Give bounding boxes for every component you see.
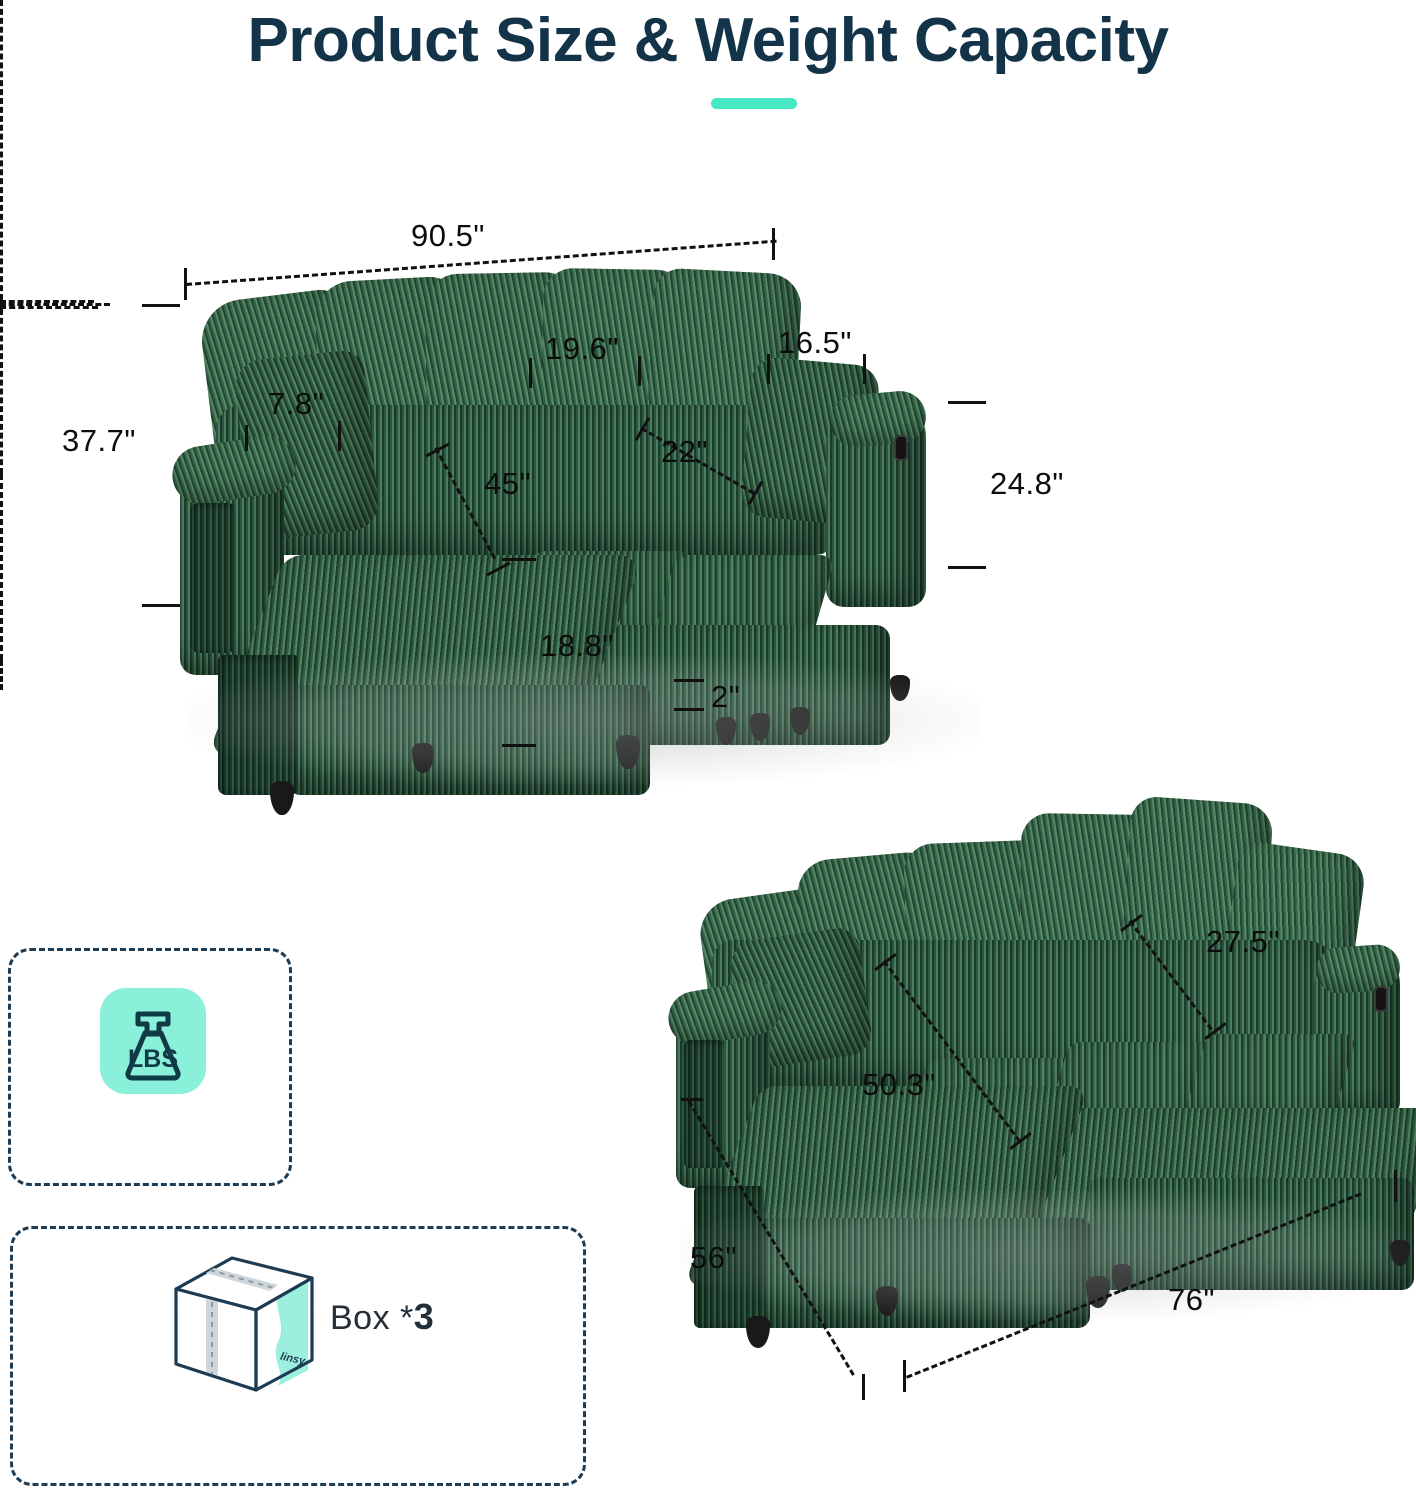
armrest-right-roll — [1314, 943, 1401, 995]
box-count-value: 3 — [414, 1296, 435, 1337]
guide-leg-height — [0, 660, 3, 690]
sofa-view-lower — [660, 790, 1416, 1330]
tick-overall-width-right — [772, 228, 775, 260]
tick-overall-height-top — [142, 304, 180, 307]
tick-overall-width-left — [184, 268, 187, 300]
guide-accent-pillow-right — [0, 306, 98, 309]
tick-back-pillow-b — [638, 356, 641, 386]
tick-accent-left-b — [338, 421, 341, 451]
tick-base-height-bottom — [502, 744, 536, 747]
sofa-leg — [746, 1316, 770, 1348]
tick-bed-width-right — [1394, 1170, 1397, 1202]
dim-chaise-length: 45" — [484, 466, 531, 502]
box-count-label: Box *3 — [330, 1296, 434, 1338]
dim-overall-width: 90.5" — [411, 218, 485, 254]
tick-back-pillow-a — [529, 358, 532, 388]
tick-base-height-top — [502, 558, 536, 561]
page-title: Product Size & Weight Capacity — [0, 2, 1416, 80]
shipping-box-icon: linsy — [160, 1248, 330, 1400]
dim-overall-height: 37.7" — [62, 423, 136, 459]
floor-shadow — [680, 1190, 1410, 1320]
shipping-box-icon-wrap: linsy — [160, 1248, 330, 1400]
lbs-badge: LBS — [100, 988, 206, 1094]
dim-seat-depth: 22" — [661, 434, 708, 470]
tick-seat-height-bottom — [948, 566, 986, 569]
tick-bed-width-left — [903, 1360, 906, 1392]
box-count-prefix: Box * — [330, 1299, 414, 1337]
tick-leg-height-bottom — [674, 708, 704, 711]
dim-accent-pillow-left: 7.8" — [268, 386, 324, 422]
dim-leg-height: 2" — [711, 679, 740, 715]
tick-bed-depth-top — [681, 1098, 703, 1101]
tick-bed-depth-bottom — [862, 1374, 865, 1400]
dim-seat-width: 27.5" — [1206, 924, 1280, 960]
side-pocket — [190, 503, 236, 653]
usb-power-port[interactable] — [1374, 986, 1388, 1012]
tick-accent-right-a — [767, 354, 770, 384]
usb-power-port[interactable] — [894, 435, 908, 461]
guide-base-height — [0, 474, 3, 660]
lbs-weight-icon: LBS — [100, 988, 206, 1094]
tick-accent-right-b — [863, 354, 866, 384]
tick-accent-left-a — [245, 425, 248, 451]
dim-bed-width: 76" — [1168, 1282, 1215, 1318]
dim-bed-depth: 56" — [690, 1240, 737, 1276]
lbs-icon-label: LBS — [128, 1045, 178, 1073]
tick-seat-height-top — [948, 401, 986, 404]
sofa-leg — [270, 781, 294, 815]
dim-accent-pillow-right: 16.5" — [778, 325, 852, 361]
dim-back-pillow: 19.6" — [545, 331, 619, 367]
tick-leg-height-top — [674, 679, 704, 682]
guide-seat-height — [0, 309, 3, 474]
tick-overall-height-bottom — [142, 604, 180, 607]
dim-bed-length: 50.3" — [862, 1067, 936, 1103]
dim-seat-height: 24.8" — [990, 466, 1064, 502]
dim-base-height: 18.8" — [540, 628, 614, 664]
header: Product Size & Weight Capacity — [0, 0, 1416, 130]
title-accent-bar — [711, 98, 797, 109]
floor-shadow — [190, 655, 980, 785]
